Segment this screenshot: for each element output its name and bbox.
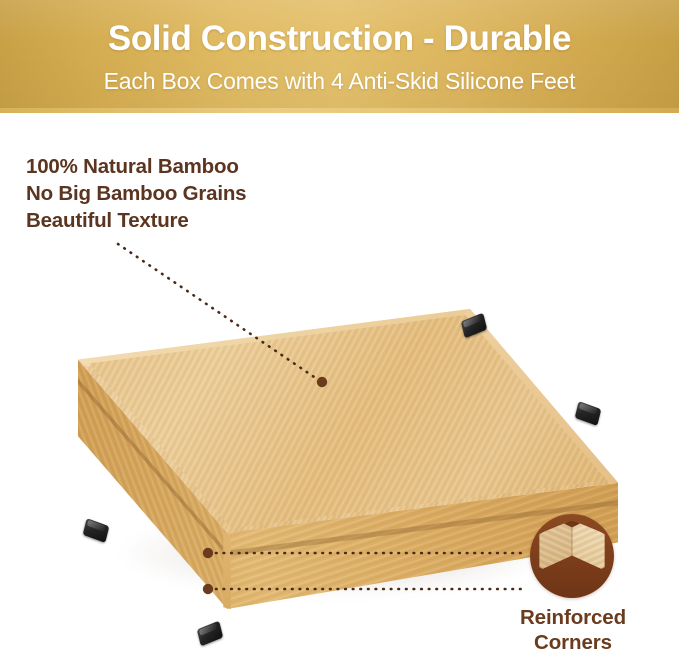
callout-corners-line-2: Corners (488, 630, 658, 655)
silicone-foot-bottom (197, 621, 223, 647)
callout-corners-text: Reinforced Corners (488, 605, 658, 655)
callout-corners-line-1: Reinforced (488, 605, 658, 630)
corner-joint-illustration (538, 516, 606, 584)
reinforced-corner-inset (530, 514, 614, 598)
product-photo-stage: 100% Natural Bamboo No Big Bamboo Grains… (0, 113, 679, 662)
banner-subtitle: Each Box Comes with 4 Anti-Skid Silicone… (0, 66, 679, 96)
silicone-foot-right (575, 401, 602, 426)
header-banner: Solid Construction - Durable Each Box Co… (0, 0, 679, 113)
silicone-foot-left (83, 518, 110, 543)
banner-title: Solid Construction - Durable (0, 18, 679, 60)
